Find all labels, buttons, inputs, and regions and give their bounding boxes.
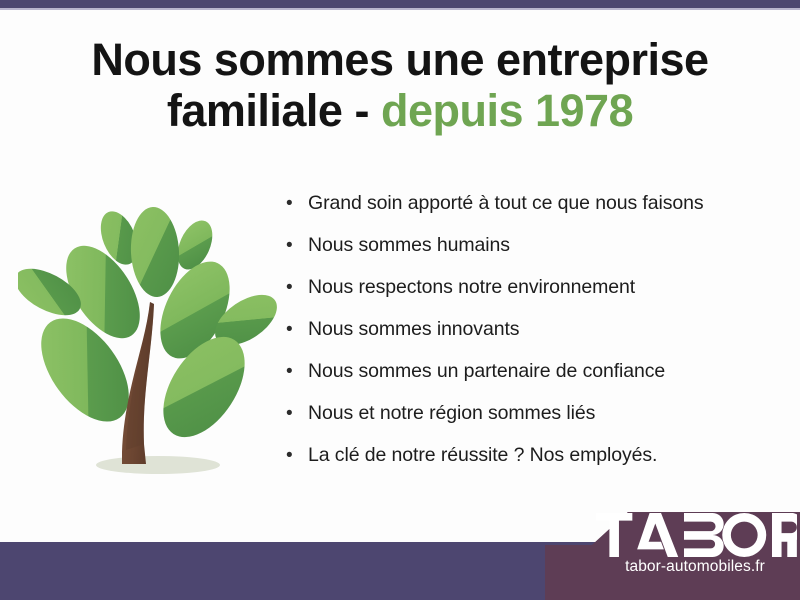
bullet-marker-icon: •: [286, 236, 308, 255]
list-item-label: Nous sommes humains: [308, 234, 510, 257]
title-line-1: Nous sommes une entreprise: [40, 34, 760, 85]
list-item-label: La clé de notre réussite ? Nos employés.: [308, 444, 657, 467]
list-item: • Grand soin apporté à tout ce que nous …: [286, 192, 766, 234]
list-item-label: Grand soin apporté à tout ce que nous fa…: [308, 192, 704, 215]
title-line-2: familiale - depuis 1978: [40, 85, 760, 136]
title-line-2-black: familiale -: [167, 85, 369, 136]
value-bullet-list: • Grand soin apporté à tout ce que nous …: [286, 192, 766, 486]
slide-canvas: Nous sommes une entreprise familiale - d…: [0, 0, 800, 600]
list-item-label: Nous respectons notre environnement: [308, 276, 635, 299]
page-title: Nous sommes une entreprise familiale - d…: [40, 34, 760, 137]
list-item: • Nous sommes un partenaire de confiance: [286, 360, 766, 402]
list-item: • Nous respectons notre environnement: [286, 276, 766, 318]
list-item: • La clé de notre réussite ? Nos employé…: [286, 444, 766, 486]
list-item-label: Nous sommes innovants: [308, 318, 519, 341]
bullet-marker-icon: •: [286, 194, 308, 213]
bullet-marker-icon: •: [286, 446, 308, 465]
top-accent-bar: [0, 0, 800, 8]
list-item: • Nous et notre région sommes liés: [286, 402, 766, 444]
tree-illustration: [18, 182, 286, 482]
tree-shadow: [96, 456, 220, 474]
list-item-label: Nous et notre région sommes liés: [308, 402, 595, 425]
bullet-marker-icon: •: [286, 362, 308, 381]
logo-panel: [540, 508, 800, 600]
list-item: • Nous sommes innovants: [286, 318, 766, 360]
list-item: • Nous sommes humains: [286, 234, 766, 276]
bullet-marker-icon: •: [286, 320, 308, 339]
title-line-2-accent: depuis 1978: [381, 85, 633, 136]
top-accent-hairline: [0, 8, 800, 10]
bullet-marker-icon: •: [286, 404, 308, 423]
bullet-marker-icon: •: [286, 278, 308, 297]
list-item-label: Nous sommes un partenaire de confiance: [308, 360, 665, 383]
